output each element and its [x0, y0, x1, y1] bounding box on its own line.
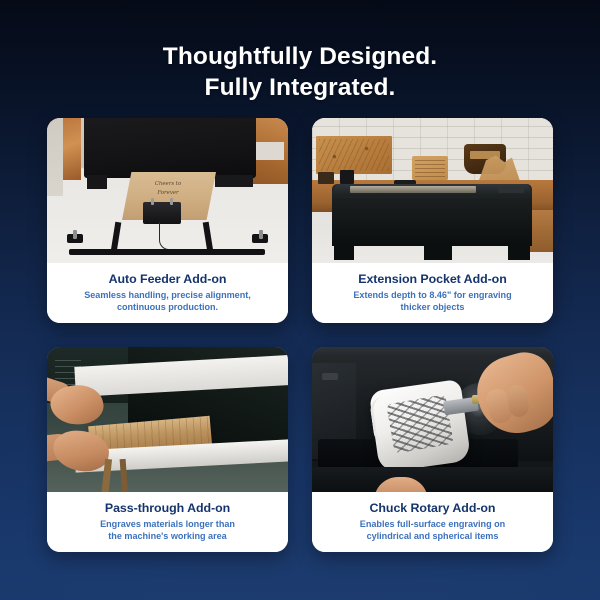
feeder-pin-left [151, 198, 154, 205]
wooden-box-left [318, 172, 334, 184]
chuck-rotary-photo [312, 347, 553, 492]
feeder-leg-left [111, 222, 122, 253]
board-engraving-script: Cheers toForever [139, 180, 197, 202]
power-cable [159, 222, 177, 250]
extension-pocket-riser [332, 198, 532, 246]
wall-panel-left [47, 118, 63, 196]
control-panel [498, 187, 524, 193]
extension-pocket-caption: Extension Pocket Add-on Extends depth to… [312, 263, 553, 323]
addon-card-pass-through[interactable]: Pass-through Add-on Engraves materials l… [47, 347, 288, 552]
addon-description-line-2: continuous production. [57, 302, 278, 313]
laser-machine-body [84, 118, 256, 178]
addon-title: Auto Feeder Add-on [57, 272, 278, 287]
addon-card-extension-pocket[interactable]: Extension Pocket Add-on Extends depth to… [312, 118, 553, 323]
addon-description: Engraves materials longer than the machi… [57, 519, 278, 542]
engraver-lid-window [350, 186, 476, 193]
page-title-line-1: Thoughtfully Designed. [0, 41, 600, 72]
addon-description: Enables full-surface engraving on cylind… [322, 519, 543, 542]
page-title-line-2: Fully Integrated. [0, 72, 600, 103]
addon-card-grid: Cheers toForever Auto Feeder Add-on Seam… [47, 118, 553, 552]
feeder-pin-right [170, 198, 173, 205]
rail-knob-left [73, 230, 77, 239]
addon-card-chuck-rotary[interactable]: Chuck Rotary Add-on Enables full-surface… [312, 347, 553, 552]
engraved-plaque-art [412, 156, 448, 180]
pass-through-photo [47, 347, 288, 492]
addon-description-line-1: Enables full-surface engraving on [322, 519, 543, 530]
addon-description-line-1: Engraves materials longer than [57, 519, 278, 530]
addon-description-line-1: Extends depth to 8.46" for engraving [322, 290, 543, 301]
addon-title: Extension Pocket Add-on [322, 272, 543, 287]
pass-through-caption: Pass-through Add-on Engraves materials l… [47, 492, 288, 552]
chuck-rotary-caption: Chuck Rotary Add-on Enables full-surface… [312, 492, 553, 552]
machine-foot-right [215, 175, 253, 187]
pocket-leg-left [334, 242, 354, 260]
engraved-map-art [316, 136, 392, 174]
addon-card-auto-feeder[interactable]: Cheers toForever Auto Feeder Add-on Seam… [47, 118, 288, 323]
addon-title: Chuck Rotary Add-on [322, 501, 543, 516]
auto-feeder-photo: Cheers toForever [47, 118, 288, 263]
addon-description-line-2: the machine's working area [57, 531, 278, 542]
pocket-leg-center [424, 242, 452, 260]
promo-page: Thoughtfully Designed. Fully Integrated.… [0, 0, 600, 600]
extension-pocket-photo [312, 118, 553, 263]
auto-feeder-caption: Auto Feeder Add-on Seamless handling, pr… [47, 263, 288, 323]
rail-knob-right [259, 230, 263, 239]
addon-description-line-1: Seamless handling, precise alignment, [57, 290, 278, 301]
addon-description: Seamless handling, precise alignment, co… [57, 290, 278, 313]
feeder-roller-unit [143, 202, 181, 224]
addon-description-line-2: cylindrical and spherical items [322, 531, 543, 542]
addon-description-line-2: thicker objects [322, 302, 543, 313]
feeder-rail-bar [69, 249, 265, 255]
feeder-leg-right [203, 222, 214, 253]
addon-description: Extends depth to 8.46" for engraving thi… [322, 290, 543, 313]
pocket-leg-right [508, 242, 530, 260]
addon-title: Pass-through Add-on [57, 501, 278, 516]
machine-foot-left [87, 175, 107, 189]
page-title: Thoughtfully Designed. Fully Integrated. [0, 41, 600, 103]
machine-front-bar [312, 467, 553, 492]
black-box-left [340, 170, 354, 184]
